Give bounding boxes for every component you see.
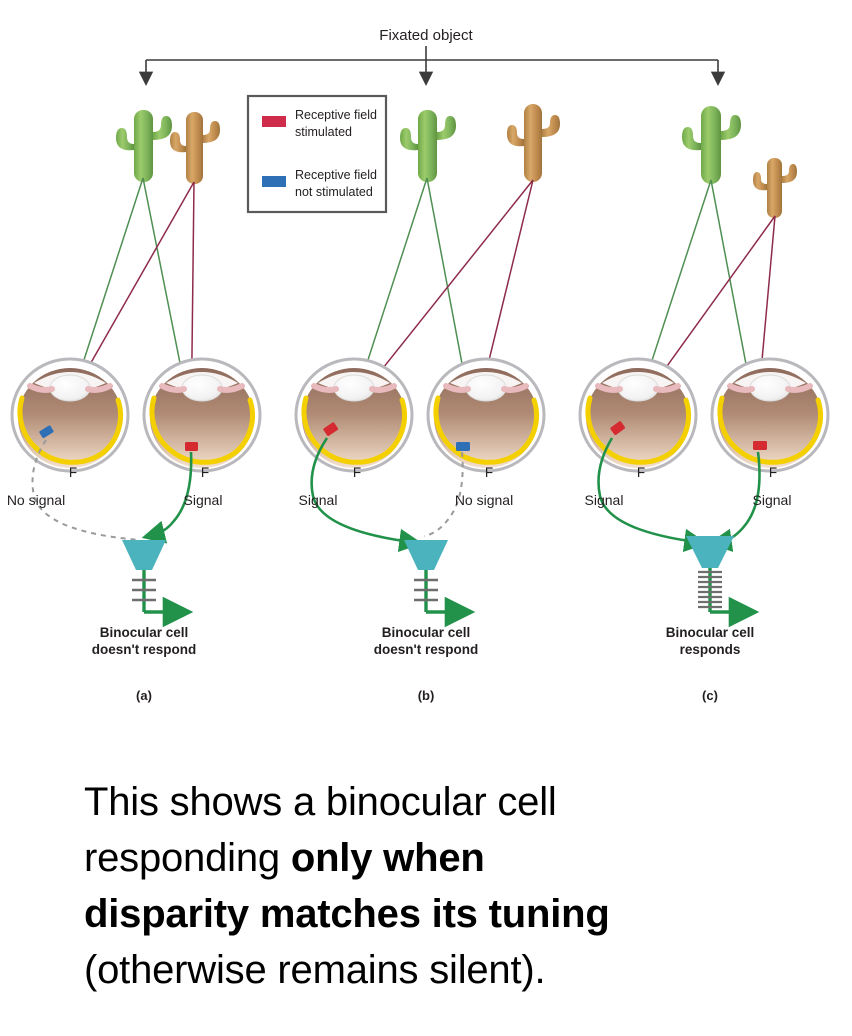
caption-line-2-bold: only when <box>291 836 485 880</box>
fovea-label-right-b: F <box>485 465 493 480</box>
receptive-field-marker-right-c <box>753 441 767 450</box>
receptive-field-marker-right-a <box>185 442 198 451</box>
signal-label-left-c: Signal <box>585 492 624 508</box>
legend-label-not-stimulated-line2: not stimulated <box>295 185 373 199</box>
cell-label-b-line2: doesn't respond <box>374 642 478 657</box>
caption-line-1: This shows a binocular cell <box>84 774 784 830</box>
cell-label-b-line1: Binocular cell <box>382 625 471 640</box>
fixated-cactus-b <box>400 110 456 182</box>
fovea-label-left-a: F <box>69 465 77 480</box>
fovea-label-right-c: F <box>769 465 777 480</box>
caption-line-3: disparity matches its tuning <box>84 886 784 942</box>
other-cactus-c <box>753 158 797 218</box>
legend: Receptive field stimulated Receptive fie… <box>248 96 386 212</box>
cell-label-a-line1: Binocular cell <box>100 625 189 640</box>
signal-label-right-c: Signal <box>753 492 792 508</box>
panel-label-a: (a) <box>136 688 152 703</box>
signal-label-left-a: No signal <box>7 492 65 508</box>
panel-c: F F Signal Signal <box>580 106 828 703</box>
legend-label-stimulated-line1: Receptive field <box>295 108 377 122</box>
binocular-cell-a <box>122 540 178 612</box>
binocular-disparity-figure: Fixated object Receptive field stimulate… <box>0 0 852 760</box>
legend-label-stimulated-line2: stimulated <box>295 125 352 139</box>
fovea-label-left-c: F <box>637 465 645 480</box>
fovea-label-left-b: F <box>353 465 361 480</box>
cell-label-a-line2: doesn't respond <box>92 642 196 657</box>
other-cactus-b <box>507 104 560 182</box>
right-eye-c: F <box>712 359 828 480</box>
other-cactus-a <box>170 112 220 184</box>
fixated-cactus-c <box>682 106 741 184</box>
caption-line-4: (otherwise remains silent). <box>84 942 784 998</box>
fixated-object-label: Fixated object <box>379 27 473 44</box>
left-eye-c: F <box>580 359 696 480</box>
left-eye-b: F <box>296 359 412 480</box>
binocular-cell-c <box>686 536 744 612</box>
panel-a: F F No signal Signal <box>7 110 260 703</box>
signal-label-right-a: Signal <box>184 492 223 508</box>
right-eye-a: F <box>144 359 260 480</box>
legend-swatch-stimulated <box>262 116 286 127</box>
caption-block: This shows a binocular cell responding o… <box>0 762 852 1036</box>
panel-label-b: (b) <box>418 688 435 703</box>
cell-label-c-line2: responds <box>680 642 741 657</box>
caption-line-2: responding only when <box>84 830 784 886</box>
legend-label-not-stimulated-line1: Receptive field <box>295 168 377 182</box>
caption-line-2-plain: responding <box>84 836 291 880</box>
figure-svg: Fixated object Receptive field stimulate… <box>0 0 852 760</box>
left-eye-a: F <box>12 359 128 480</box>
receptive-field-marker-right-b <box>456 442 470 451</box>
signal-label-left-b: Signal <box>299 492 338 508</box>
signal-label-right-b: No signal <box>455 492 513 508</box>
binocular-cell-b <box>404 540 460 612</box>
fixated-cactus-a <box>116 110 172 182</box>
right-eye-b: F <box>428 359 544 480</box>
cell-label-c-line1: Binocular cell <box>666 625 755 640</box>
fixated-object-bracket: Fixated object <box>146 27 718 78</box>
fovea-label-right-a: F <box>201 465 209 480</box>
panel-label-c: (c) <box>702 688 718 703</box>
legend-swatch-not-stimulated <box>262 176 286 187</box>
